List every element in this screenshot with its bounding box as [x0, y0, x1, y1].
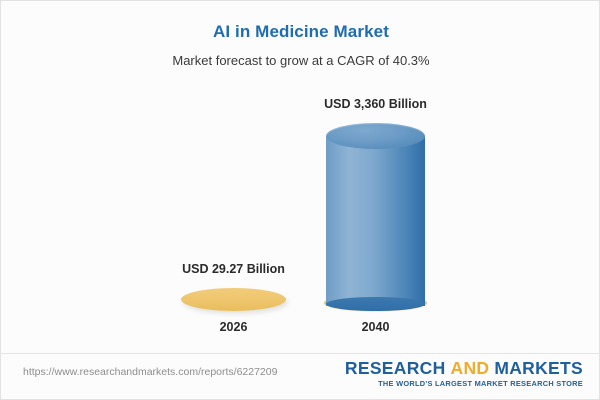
- data-series-group-2040: USD 3,360 Billion 2040: [293, 1, 458, 353]
- data-cylinder-2026: [181, 288, 286, 311]
- cylinder-body: [326, 136, 425, 306]
- category-label-2040: 2040: [293, 320, 458, 334]
- infographic-card: AI in Medicine Market Market forecast to…: [0, 0, 600, 400]
- cylinder-bottom-ellipse: [326, 297, 425, 311]
- category-label-2026: 2026: [151, 320, 316, 334]
- data-series-group-2026: USD 29.27 Billion 2026: [151, 1, 316, 353]
- data-value-label-2026: USD 29.27 Billion: [151, 262, 316, 276]
- brand-word-and: AND: [451, 358, 490, 378]
- brand-name: RESEARCHANDMARKETS: [345, 359, 583, 377]
- chart-plot-area: USD 29.27 Billion 2026 USD 3,360 Billion…: [1, 1, 600, 353]
- data-value-label-2040: USD 3,360 Billion: [293, 97, 458, 111]
- cylinder-top-ellipse: [326, 123, 425, 149]
- brand-tagline: THE WORLD'S LARGEST MARKET RESEARCH STOR…: [345, 379, 583, 388]
- brand-word-research: RESEARCH: [345, 358, 446, 378]
- brand-word-markets: MARKETS: [494, 358, 583, 378]
- footer: https://www.researchandmarkets.com/repor…: [1, 354, 600, 400]
- data-cylinder-2040: [326, 123, 425, 311]
- brand-logo: RESEARCHANDMARKETS THE WORLD'S LARGEST M…: [345, 359, 583, 388]
- source-url-link[interactable]: https://www.researchandmarkets.com/repor…: [23, 366, 277, 378]
